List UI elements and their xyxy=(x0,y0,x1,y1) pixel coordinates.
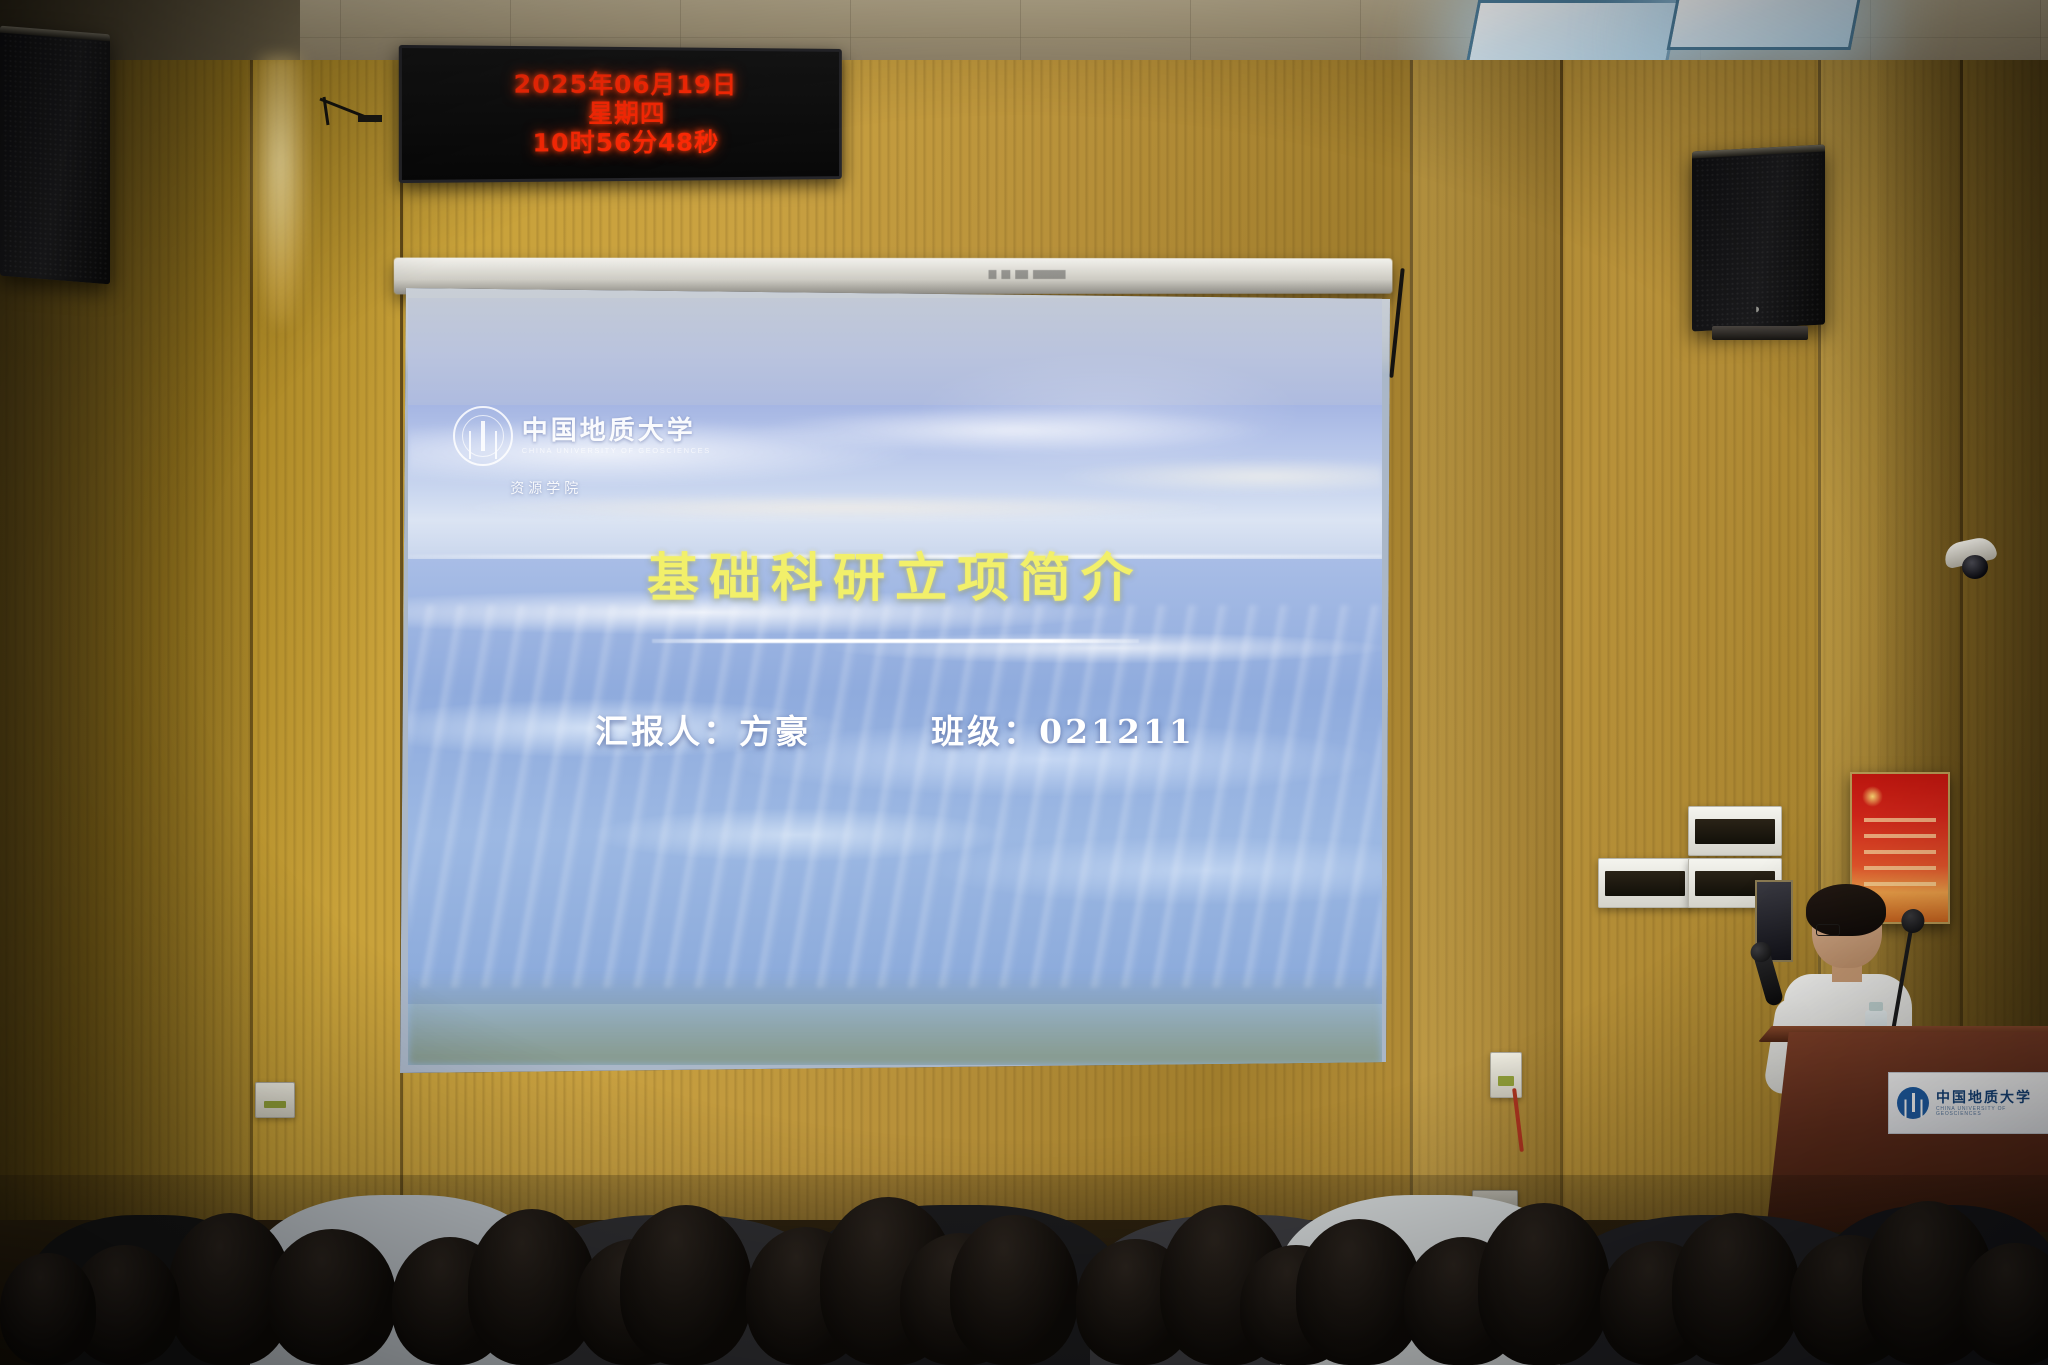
projector-hotspot xyxy=(914,352,1304,475)
audience-head xyxy=(1296,1219,1422,1365)
audience xyxy=(0,1035,2048,1365)
projected-image-area: 中国地质大学 CHINA UNIVERSITY OF GEOSCIENCES 资… xyxy=(408,298,1382,1065)
led-time-line: 10时56分48秒 xyxy=(532,129,719,158)
panel-window xyxy=(1605,871,1684,896)
wall-light-glow xyxy=(250,55,310,325)
speaker-logo-icon: ◗ xyxy=(1754,301,1764,317)
audience-head xyxy=(268,1229,396,1365)
dome-security-camera xyxy=(1944,540,1996,580)
speaker-mount-bracket xyxy=(1712,326,1808,340)
led-weekday-line: 星期四 xyxy=(588,100,665,128)
camera-lens-icon xyxy=(1962,555,1988,579)
university-name-en: CHINA UNIVERSITY OF GEOSCIENCES xyxy=(522,447,711,455)
electrical-panel-2 xyxy=(1598,858,1692,908)
poster-sun-glow xyxy=(1862,786,1883,807)
university-seal-icon xyxy=(453,406,513,466)
title-slide: 中国地质大学 CHINA UNIVERSITY OF GEOSCIENCES 资… xyxy=(408,298,1382,1065)
audience-head xyxy=(620,1205,752,1365)
ceiling-light-panel-b xyxy=(1667,0,1862,50)
university-logo: 中国地质大学 CHINA UNIVERSITY OF GEOSCIENCES xyxy=(453,386,745,486)
slide-title: 基础科研立项简介 xyxy=(408,536,1382,611)
led-clock-board: 2025年06月19日 星期四 10时56分48秒 xyxy=(399,45,842,183)
wall-speaker-left xyxy=(0,26,110,285)
projection-screen: 中国地质大学 CHINA UNIVERSITY OF GEOSCIENCES 资… xyxy=(400,288,1390,1073)
led-date-line: 2025年06月19日 xyxy=(514,70,738,99)
lecture-hall-scene: 2025年06月19日 星期四 10时56分48秒 ◗ xyxy=(0,0,2048,1365)
slide-meta-row: 汇报人：方豪 班级：021211 xyxy=(408,705,1382,753)
audience-head xyxy=(1672,1213,1800,1365)
electrical-panel-1 xyxy=(1688,806,1782,856)
ceiling-light-panel-a xyxy=(1466,0,1680,64)
slide-class: 班级：021211 xyxy=(931,705,1195,753)
led-board-bracket xyxy=(318,95,384,129)
presenter-glasses-icon xyxy=(1816,924,1840,936)
panel-window xyxy=(1695,819,1774,844)
school-name: 资源学院 xyxy=(510,478,582,498)
audience-head xyxy=(950,1215,1078,1365)
speaker-grille xyxy=(3,33,107,281)
university-logo-text: 中国地质大学 CHINA UNIVERSITY OF GEOSCIENCES xyxy=(522,417,711,455)
poster-text-lines xyxy=(1864,818,1937,886)
slide-title-underline xyxy=(652,639,1139,643)
screen-brand-mark xyxy=(989,270,1066,279)
wall-speaker-right: ◗ xyxy=(1692,145,1825,332)
slide-presenter: 汇报人：方豪 xyxy=(595,705,811,753)
audience-head xyxy=(0,1253,96,1365)
slide-ocean-streaks xyxy=(408,605,1382,989)
audience-head xyxy=(1478,1203,1610,1365)
bottle-cap xyxy=(1869,1002,1883,1011)
projection-screen-case xyxy=(394,258,1393,295)
university-name-cn: 中国地质大学 xyxy=(522,417,711,443)
